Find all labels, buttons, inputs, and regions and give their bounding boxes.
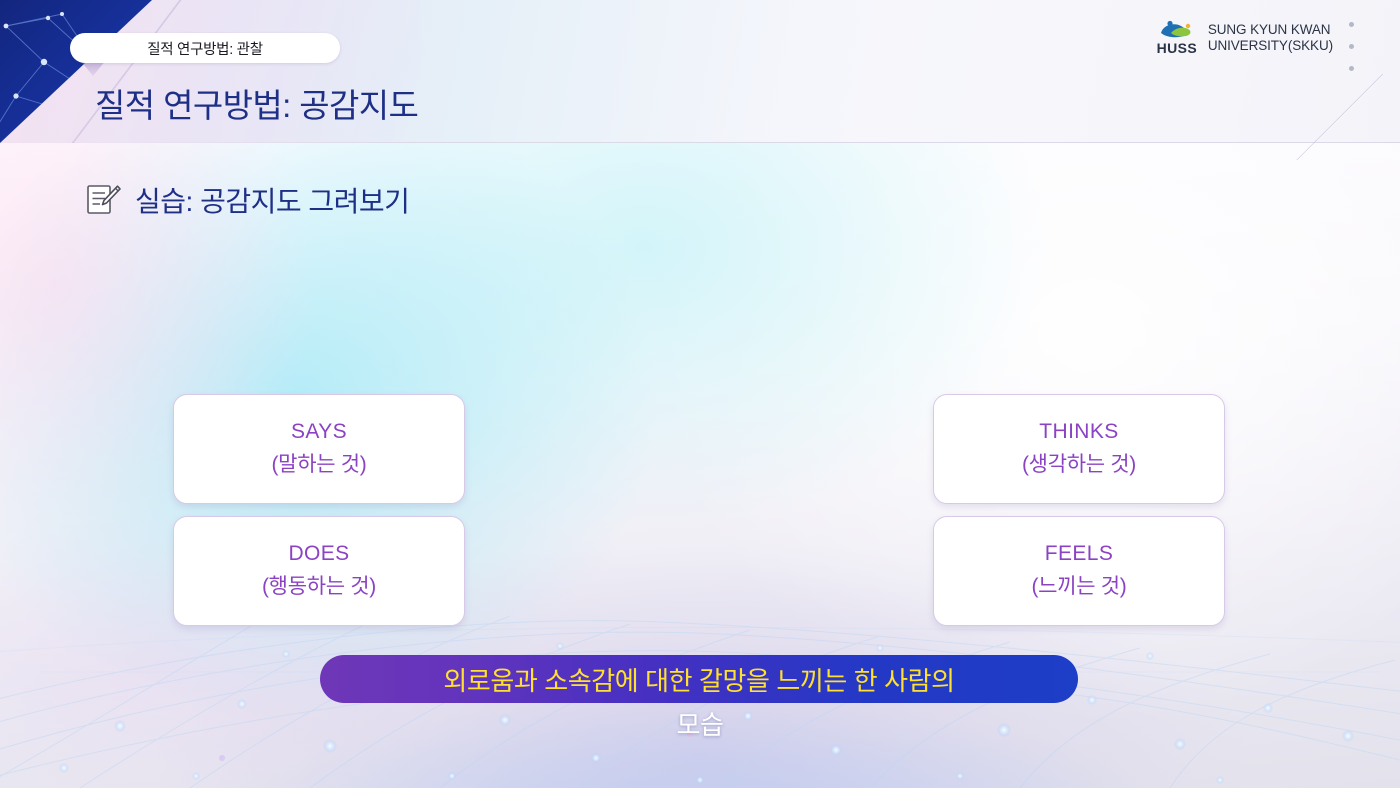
university-name-line2: UNIVERSITY(SKKU) <box>1208 38 1333 53</box>
card-title-en: FEELS <box>1045 542 1114 566</box>
card-title-ko: (생각하는 것) <box>1022 448 1136 478</box>
empathy-card-says[interactable]: SAYS (말하는 것) <box>173 394 465 504</box>
memo-pencil-icon <box>86 183 122 217</box>
caption-line1: 외로움과 소속감에 대한 갈망을 느끼는 한 사람의 <box>443 661 954 698</box>
empathy-card-does[interactable]: DOES (행동하는 것) <box>173 516 465 626</box>
card-title-en: SAYS <box>291 420 347 444</box>
practice-label: 실습: 공감지도 그려보기 <box>135 180 409 220</box>
breadcrumb-label: 질적 연구방법: 관찰 <box>147 38 263 59</box>
caption-banner: 외로움과 소속감에 대한 갈망을 느끼는 한 사람의 <box>320 655 1078 703</box>
university-name: SUNG KYUN KWAN UNIVERSITY(SKKU) <box>1208 22 1333 52</box>
breadcrumb[interactable]: 질적 연구방법: 관찰 <box>70 33 340 63</box>
card-title-ko: (느끼는 것) <box>1031 570 1126 600</box>
skku-logo: HUSS SUNG KYUN KWAN UNIVERSITY(SKKU) <box>1155 20 1333 55</box>
page-title: 질적 연구방법: 공감지도 <box>95 79 418 127</box>
practice-heading: 실습: 공감지도 그려보기 <box>86 180 409 220</box>
huss-wordmark: HUSS <box>1157 41 1198 55</box>
university-name-line1: SUNG KYUN KWAN <box>1208 22 1333 37</box>
card-title-ko: (말하는 것) <box>271 448 366 478</box>
caption-line2: 모습 <box>0 705 1400 742</box>
empathy-card-thinks[interactable]: THINKS (생각하는 것) <box>933 394 1225 504</box>
empathy-card-feels[interactable]: FEELS (느끼는 것) <box>933 516 1225 626</box>
card-title-en: THINKS <box>1039 420 1118 444</box>
presentation-slide: 질적 연구방법: 관찰 질적 연구방법: 공감지도 HUSS SUNG KYUN… <box>0 0 1400 788</box>
slide-header: 질적 연구방법: 관찰 질적 연구방법: 공감지도 HUSS SUNG KYUN… <box>0 0 1400 143</box>
card-title-en: DOES <box>288 542 349 566</box>
huss-swoosh-icon <box>1157 20 1197 40</box>
huss-logo-mark: HUSS <box>1155 20 1199 55</box>
header-corner-line-decor <box>1280 74 1400 160</box>
card-title-ko: (행동하는 것) <box>262 570 376 600</box>
